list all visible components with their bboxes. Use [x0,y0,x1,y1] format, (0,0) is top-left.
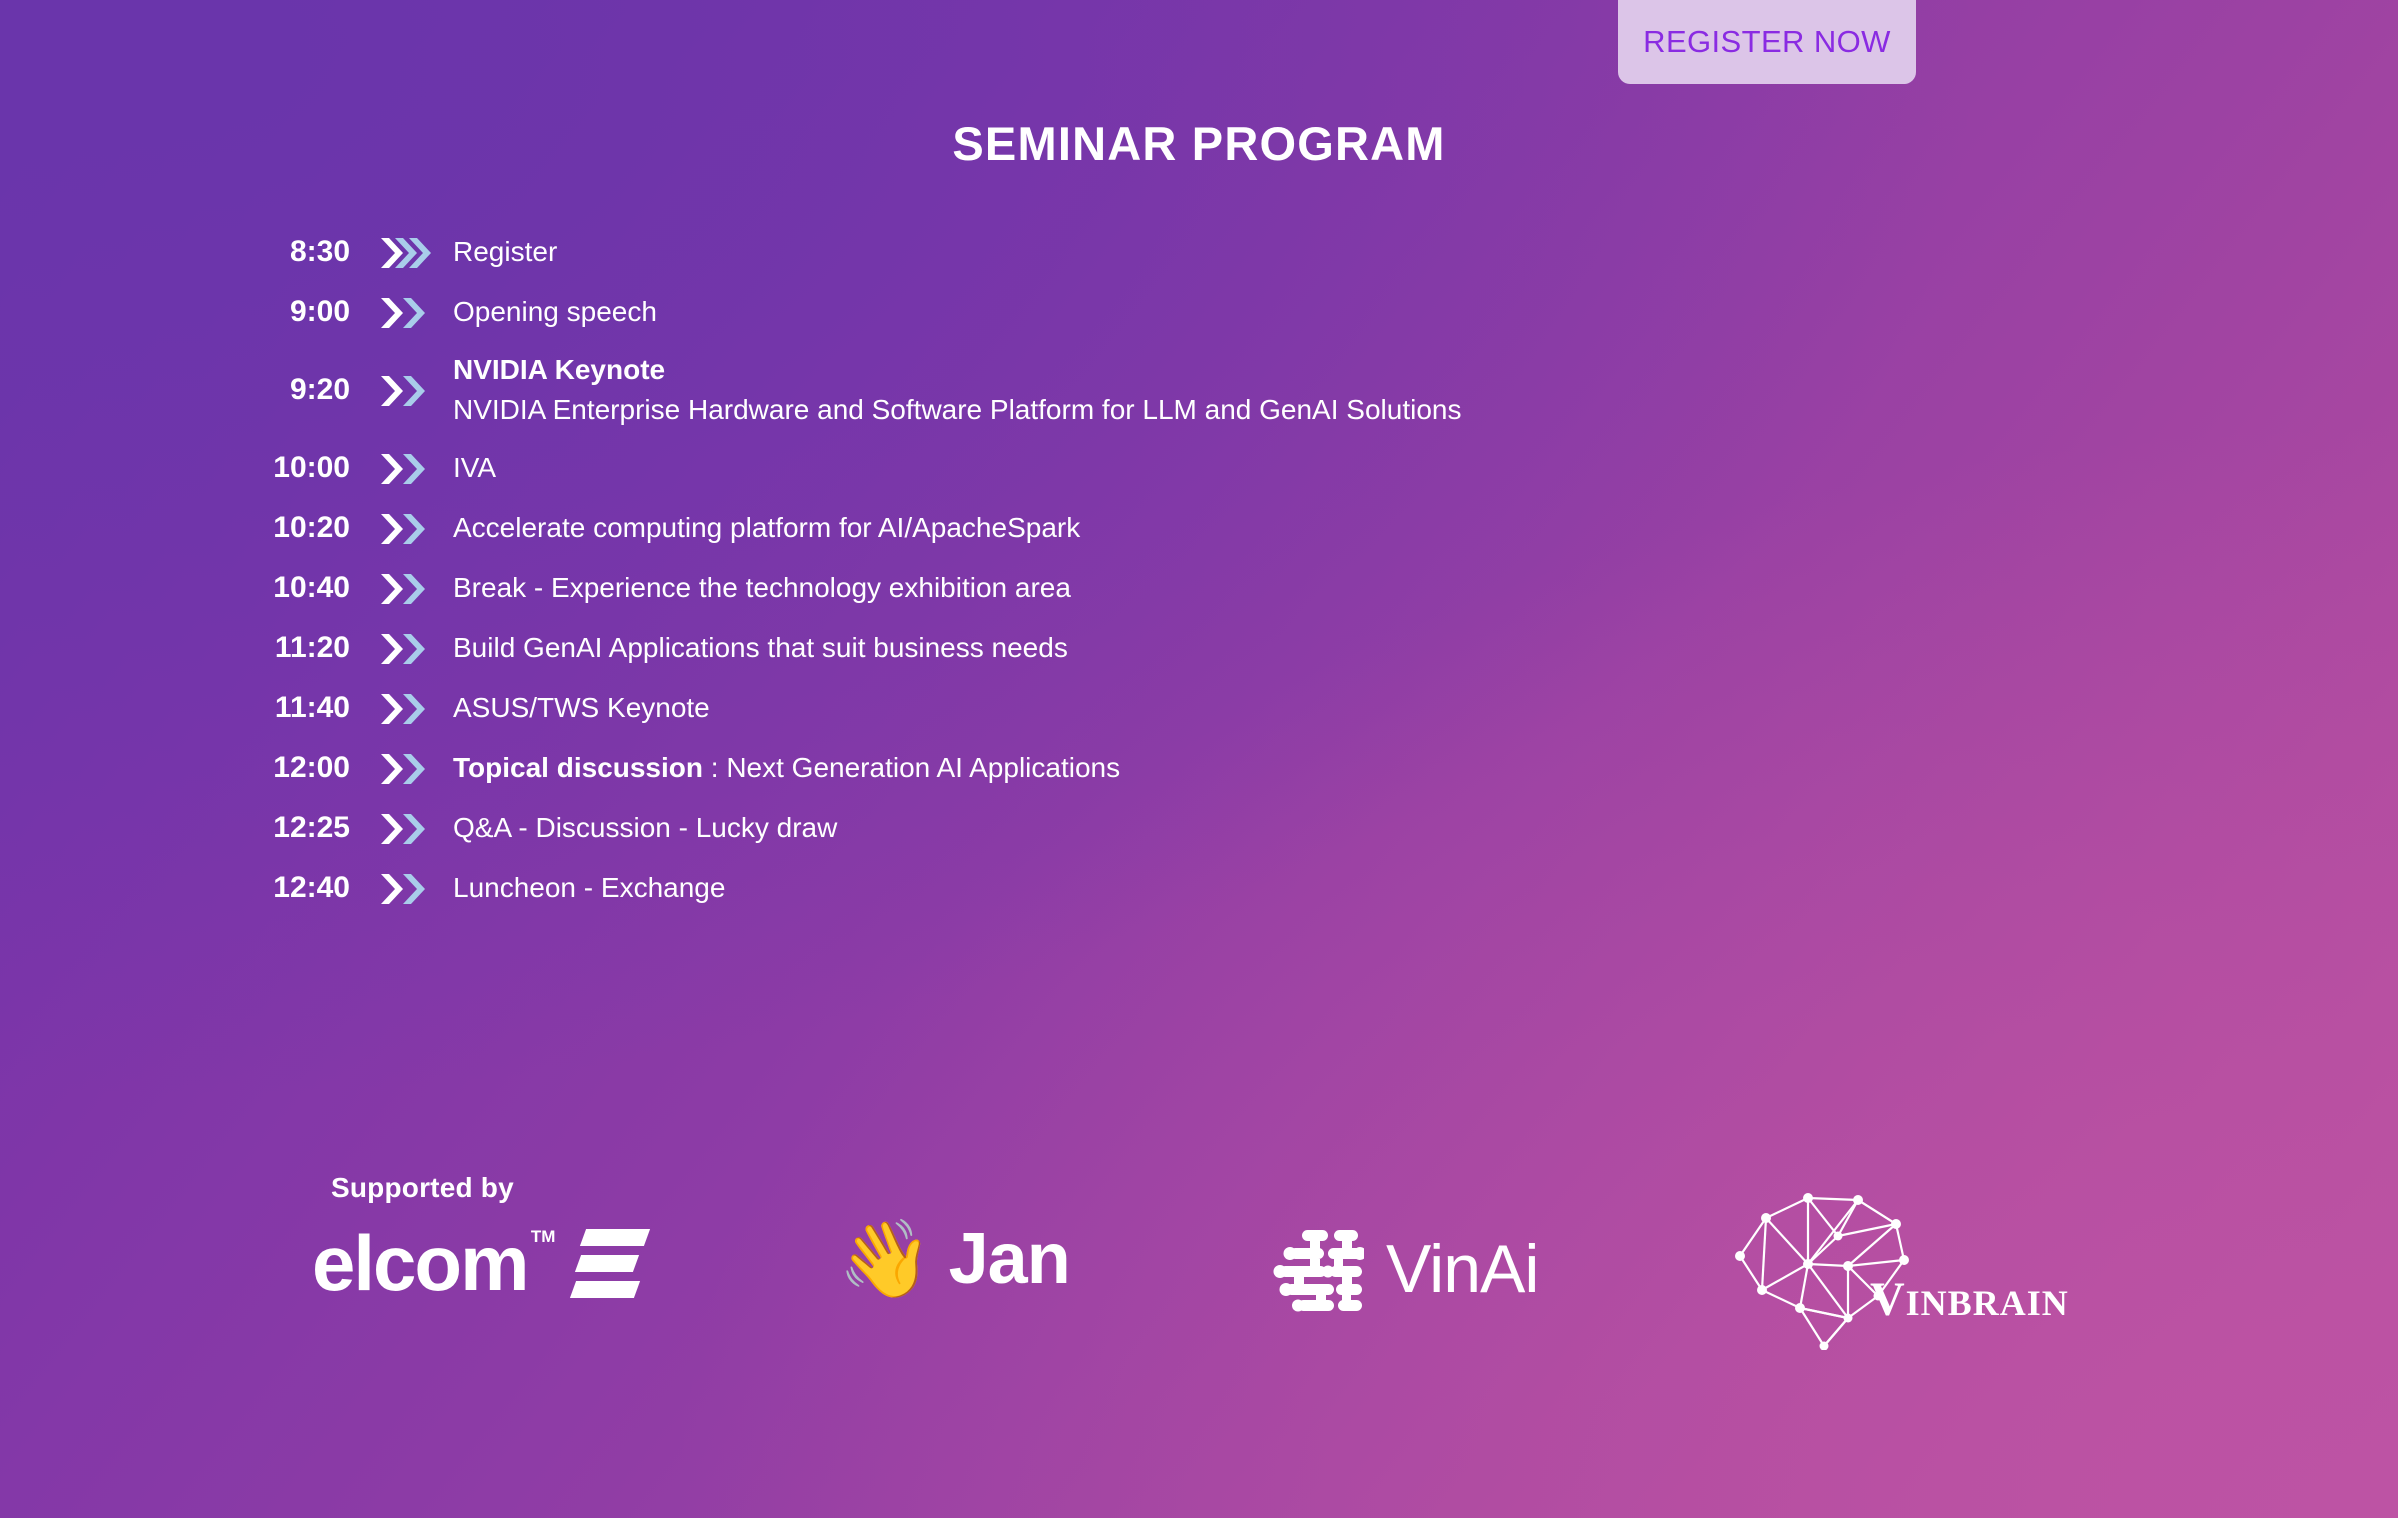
jan-wordmark: Jan [949,1220,1070,1299]
schedule-time: 12:25 [240,811,350,845]
vinai-wordmark: VinAi [1386,1235,1539,1303]
elcom-wordmark-text: elcom [312,1219,527,1307]
schedule-title: Build GenAI Applications that suit busin… [453,632,1068,663]
vinbrain-wordmark-initial: V [1870,1273,1906,1326]
schedule-row: 12:40 Luncheon - Exchange [0,858,2398,918]
register-now-label: REGISTER NOW [1643,24,1891,60]
elcom-wordmark: elcom TM [312,1224,527,1302]
waving-hand-icon: 👋 [838,1222,933,1298]
schedule-description: IVA [453,448,496,488]
schedule-description: Q&A - Discussion - Lucky draw [453,808,837,848]
schedule-row: 11:20 Build GenAI Applications that suit… [0,618,2398,678]
schedule-time: 9:00 [240,295,350,329]
double-chevron-icon [381,812,433,846]
sponsor-logo-vinbrain: VINBRAIN [1728,1178,2068,1358]
schedule-title: Luncheon - Exchange [453,872,725,903]
schedule-description: Build GenAI Applications that suit busin… [453,628,1068,668]
double-chevron-icon [381,296,433,330]
register-now-button[interactable]: REGISTER NOW [1618,0,1916,84]
schedule-detail: NVIDIA Enterprise Hardware and Software … [453,390,1461,430]
schedule-time: 10:40 [240,571,350,605]
sponsor-logo-jan: 👋 Jan [838,1220,1070,1299]
schedule-description: Luncheon - Exchange [453,868,725,908]
schedule-description: Opening speech [453,292,657,332]
schedule-row: 9:00 Opening speech [0,282,2398,342]
double-chevron-icon [381,452,433,486]
brain-network-icon [1728,1178,1978,1350]
schedule-description: Accelerate computing platform for AI/Apa… [453,508,1080,548]
schedule-row: 11:40 ASUS/TWS Keynote [0,678,2398,738]
schedule-title: Topical discussion [453,752,703,783]
sponsor-logos: elcom TM 👋 Jan [0,1220,2398,1350]
schedule-row: 10:40 Break - Experience the technology … [0,558,2398,618]
elcom-e-mark-icon [573,1227,647,1299]
schedule-time: 12:40 [240,871,350,905]
vinbrain-wordmark-rest: INBRAIN [1906,1283,2069,1323]
page-title: SEMINAR PROGRAM [0,116,2398,171]
double-chevron-icon [381,692,433,726]
vinbrain-wordmark: VINBRAIN [1870,1276,2069,1324]
double-chevron-icon [381,374,433,408]
schedule-title: Opening speech [453,296,657,327]
schedule-description: ASUS/TWS Keynote [453,688,710,728]
seminar-schedule-list: 8:30 Register 9:00 Opening speech 9:20 N… [0,222,2398,918]
double-chevron-icon [381,752,433,786]
supported-by-label: Supported by [331,1172,514,1204]
schedule-time: 11:20 [240,631,350,665]
schedule-description: Break - Experience the technology exhibi… [453,568,1071,608]
schedule-title: Accelerate computing platform for AI/Apa… [453,512,1080,543]
schedule-time: 11:40 [240,691,350,725]
sponsor-logo-elcom: elcom TM [312,1224,647,1302]
double-chevron-icon [381,236,433,270]
schedule-title: IVA [453,452,496,483]
schedule-title-suffix: : Next Generation AI Applications [703,752,1120,783]
schedule-row: 9:20 NVIDIA Keynote NVIDIA Enterprise Ha… [0,342,2398,438]
schedule-time: 9:20 [240,373,350,407]
double-chevron-icon [381,632,433,666]
schedule-row: 8:30 Register [0,222,2398,282]
trademark-icon: TM [531,1228,556,1245]
schedule-title: Break - Experience the technology exhibi… [453,572,1071,603]
schedule-title: NVIDIA Keynote [453,354,665,385]
schedule-description: NVIDIA Keynote NVIDIA Enterprise Hardwar… [453,350,1461,430]
schedule-description: Topical discussion : Next Generation AI … [453,748,1120,788]
double-chevron-icon [381,872,433,906]
vinai-circuit-icon [1272,1226,1364,1312]
schedule-time: 8:30 [240,235,350,269]
schedule-row: 10:20 Accelerate computing platform for … [0,498,2398,558]
schedule-description: Register [453,232,557,272]
schedule-title: ASUS/TWS Keynote [453,692,710,723]
schedule-time: 10:00 [240,451,350,485]
schedule-title: Q&A - Discussion - Lucky draw [453,812,837,843]
double-chevron-icon [381,512,433,546]
schedule-row: 12:25 Q&A - Discussion - Lucky draw [0,798,2398,858]
schedule-row: 10:00 IVA [0,438,2398,498]
schedule-time: 12:00 [240,751,350,785]
schedule-title: Register [453,236,557,267]
double-chevron-icon [381,572,433,606]
schedule-time: 10:20 [240,511,350,545]
sponsor-logo-vinai: VinAi [1272,1226,1539,1312]
schedule-row: 12:00 Topical discussion : Next Generati… [0,738,2398,798]
